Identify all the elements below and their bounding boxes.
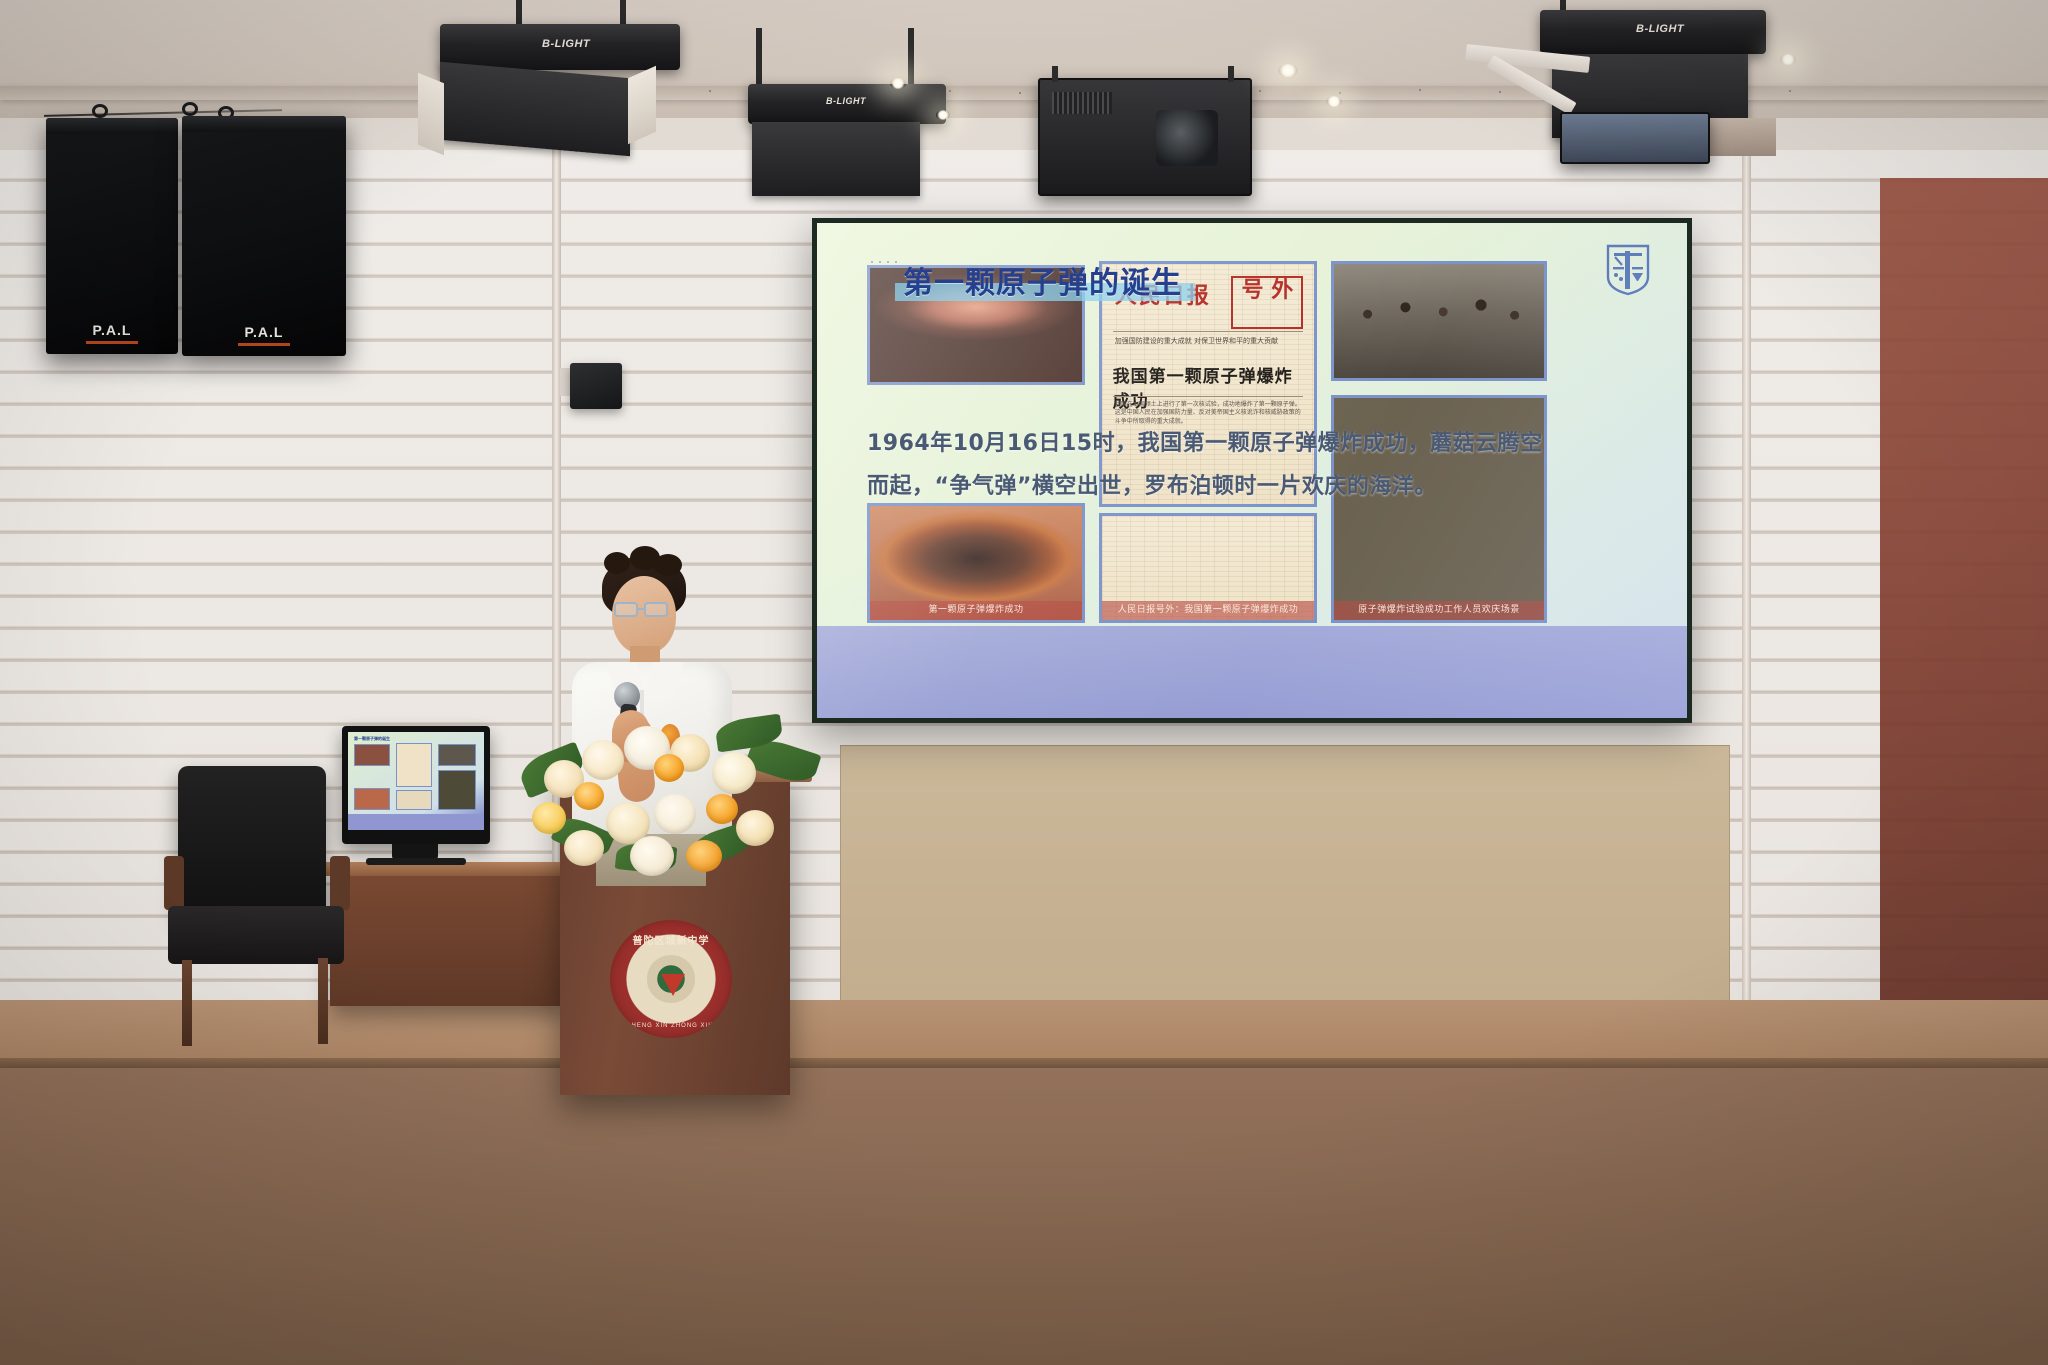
small-wall-speaker: [570, 363, 622, 409]
ceiling-lamp-2: [936, 110, 950, 120]
audience-floor: [0, 1068, 2048, 1365]
av-table: [330, 866, 568, 1006]
presenter-hair-curl-1: [604, 552, 630, 574]
flower-rose-yellow-1: [532, 802, 566, 834]
newspaper-extra-badge: 号 外: [1231, 276, 1303, 329]
stage-armchair-leg-right: [318, 958, 328, 1044]
mini-slide-image-6: [438, 770, 476, 810]
flower-rose-2: [582, 740, 624, 780]
projector-mount-pole-2: [1228, 66, 1234, 82]
stage-light-brand-right: B-LIGHT: [1636, 23, 1684, 35]
ceiling-projector: [1038, 78, 1252, 196]
stage-armchair-arm-left: [164, 856, 184, 910]
pa-speaker-left-top: [46, 118, 178, 134]
ceiling-lamp-1: [890, 78, 906, 89]
stage-armchair-leg-left: [182, 960, 192, 1046]
mini-slide-image-2: [396, 743, 432, 787]
wall-tan-panel: [840, 745, 1730, 1020]
stage-light-center-left: B-LIGHT: [748, 84, 946, 124]
pa-speaker-right-brand: P.A.L: [245, 324, 284, 340]
speaker-hanger-mid: [182, 102, 198, 116]
stage-armchair-back: [178, 766, 326, 916]
soldiers-celebrating-art: [1334, 264, 1544, 378]
stage-light-left: B-LIGHT: [440, 24, 680, 70]
mini-slide-band: [348, 814, 484, 830]
projector-lens: [1156, 110, 1218, 166]
slide-caption-fireball: 第一颗原子弹爆炸成功: [870, 601, 1082, 620]
presenter-glasses-bridge: [638, 608, 646, 610]
pa-brand-underline-left: [86, 341, 138, 344]
stage-light-brand-center: B-LIGHT: [826, 96, 866, 106]
mini-slide-image-3: [438, 744, 476, 766]
stage-light-flap-right: [628, 66, 656, 144]
slide-body-line-2: 而起，“争气弹”横空出世，罗布泊顿时一片欢庆的海洋。: [867, 466, 1657, 509]
stage-light-barndoor-center: [752, 122, 920, 196]
projection-screen: 第一颗原子弹的诞生 人民日报 号 外: [812, 218, 1692, 723]
confidence-monitor-title: 第一颗原子弹的诞生: [354, 736, 390, 742]
mini-slide-image-1: [354, 744, 390, 766]
stage-armchair-arm-right: [330, 856, 350, 910]
pa-speaker-left-brand: P.A.L: [93, 322, 132, 338]
presenter-glasses-left-lens: [614, 602, 638, 617]
mini-slide-image-5: [396, 790, 432, 810]
flower-rose-orange-3: [706, 794, 738, 824]
school-crest-shield-icon: [1605, 243, 1651, 297]
slide-body-line-1: 1964年10月16日15时，我国第一颗原子弹爆炸成功，蘑菇云腾空: [867, 423, 1657, 466]
lectern-emblem-text-en: CHENG XIN ZHONG XUE: [610, 1023, 732, 1029]
stage-light-right: B-LIGHT: [1540, 10, 1766, 54]
wall-mounted-panel: [1560, 112, 1710, 164]
speaker-hanger-left: [92, 104, 108, 118]
flower-rose-orange-1: [654, 754, 684, 782]
monitor-foot: [366, 858, 466, 865]
confidence-monitor-screen: 第一颗原子弹的诞生: [348, 732, 484, 830]
presenter-glasses-right-lens: [644, 602, 668, 617]
stage-armchair-seat: [168, 906, 344, 964]
ceiling-lamp-5: [1780, 54, 1796, 65]
auditorium-photo: B-LIGHT B-LIGHT B-LIGHT P.A.L P.A.L: [0, 0, 2048, 1365]
light-rig-pole-3: [756, 28, 762, 88]
slide-caption-newspaper: 人民日报号外：我国第一颗原子弹爆炸成功: [1102, 601, 1314, 620]
flower-arrangement: [520, 690, 800, 880]
presentation-slide: 第一颗原子弹的诞生 人民日报 号 外: [817, 223, 1687, 718]
ceiling-lamp-4: [1326, 96, 1342, 107]
lectern-emblem-text-cn: 普陀区城新中学: [610, 932, 732, 947]
stage-light-flap-left: [418, 73, 444, 156]
wall-trim-right: [1742, 120, 1751, 1080]
presenter-hair-curl-3: [654, 554, 682, 576]
slide-title: 第一颗原子弹的诞生: [903, 269, 1182, 299]
mini-slide-image-4: [354, 788, 390, 810]
projector-mount-pole-1: [1052, 66, 1058, 82]
newspaper-rule-1: [1113, 331, 1304, 332]
light-rig-pole-4: [908, 28, 914, 90]
newspaper-subhead: 加强国防建设的重大成就 对保卫世界和平的重大贡献: [1115, 336, 1302, 347]
pa-speaker-left: P.A.L: [46, 118, 178, 354]
slide-body-paragraph: 1964年10月16日15时，我国第一颗原子弹爆炸成功，蘑菇云腾空 而起，“争气…: [867, 423, 1657, 509]
slide-image-newspaper-bottom: 人民日报号外：我国第一颗原子弹爆炸成功: [1099, 513, 1317, 623]
stage-light-brand-left: B-LIGHT: [542, 38, 590, 50]
flower-rose-10: [736, 810, 774, 846]
flower-rose-8: [564, 830, 604, 866]
flower-rose-7: [654, 794, 696, 834]
slide-caption-celebration: 原子弹爆炸试验成功工作人员欢庆场景: [1334, 601, 1544, 620]
pa-brand-underline-right: [238, 343, 290, 346]
pa-speaker-right: P.A.L: [182, 116, 346, 356]
lectern-emblem-chevron: [661, 974, 685, 996]
projector-vent: [1052, 92, 1112, 114]
ceiling-lamp-3: [1278, 64, 1298, 77]
slide-image-soldiers: [1331, 261, 1547, 381]
slide-image-fireball: 第一颗原子弹爆炸成功: [867, 503, 1085, 623]
flower-rose-9: [630, 836, 674, 876]
newspaper-rule-2: [1113, 396, 1304, 397]
slide-bottom-band: [817, 626, 1687, 718]
flower-rose-orange-2: [574, 782, 604, 810]
stage-light-barndoor-left: [440, 62, 630, 157]
pa-speaker-right-top: [182, 116, 346, 132]
confidence-monitor: 第一颗原子弹的诞生: [342, 726, 490, 844]
lectern-emblem: 普陀区城新中学 CHENG XIN ZHONG XUE: [610, 920, 732, 1038]
flower-rose-orange-4: [686, 840, 722, 872]
stage-edge: [0, 1058, 2048, 1068]
flower-rose-5: [712, 752, 756, 794]
